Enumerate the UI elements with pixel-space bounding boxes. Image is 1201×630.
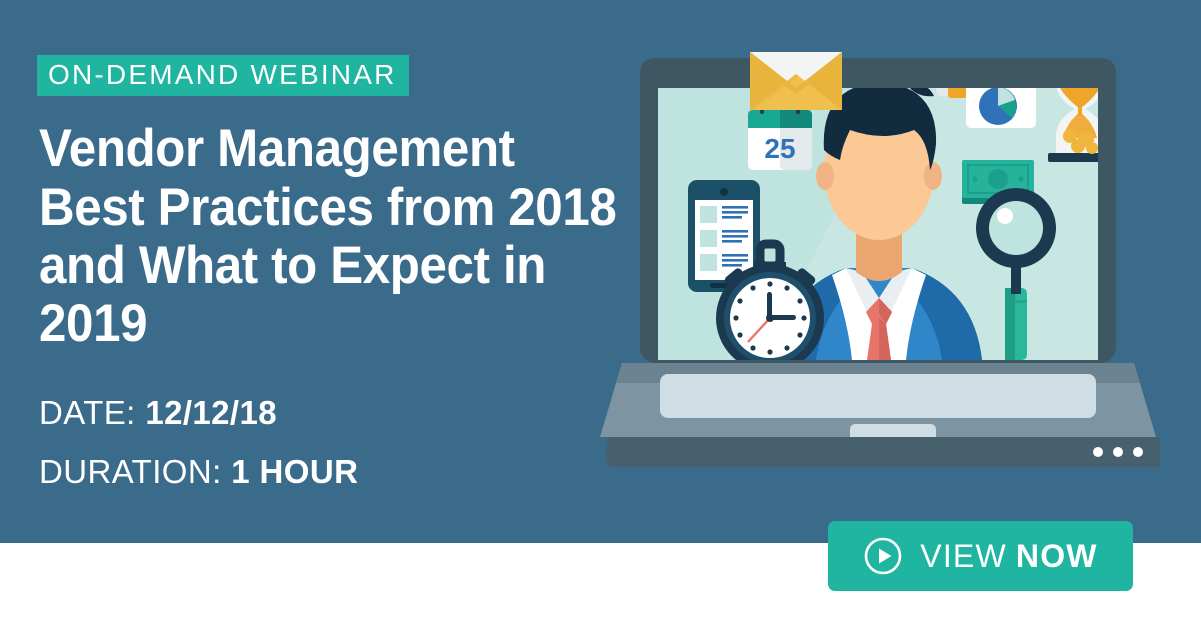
eyebrow-badge: ON-DEMAND WEBINAR <box>37 55 409 96</box>
cta-label-bold: NOW <box>1016 538 1098 574</box>
webinar-illustration: 25 <box>600 0 1160 500</box>
duration-line: DURATION: 1 HOUR <box>39 455 677 488</box>
view-now-button[interactable]: VIEWNOW <box>828 521 1133 591</box>
cta-label-light: VIEW <box>920 538 1007 574</box>
page-title: Vendor Management Best Practices from 20… <box>39 120 632 353</box>
banner-text-column: ON-DEMAND WEBINAR Vendor Management Best… <box>37 55 677 514</box>
date-value: 12/12/18 <box>145 394 277 431</box>
svg-text:25: 25 <box>764 133 795 164</box>
date-line: DATE: 12/12/18 <box>39 396 677 429</box>
duration-value: 1 HOUR <box>231 453 358 490</box>
calendar-icon: 25 <box>748 100 812 170</box>
envelope-icon <box>750 52 842 110</box>
duration-label: DURATION: <box>39 453 222 490</box>
webinar-meta: DATE: 12/12/18 DURATION: 1 HOUR <box>39 396 677 488</box>
view-now-label: VIEWNOW <box>920 540 1097 572</box>
webinar-promo-banner: 25 <box>0 0 1201 630</box>
play-circle-icon <box>863 536 903 576</box>
date-label: DATE: <box>39 394 136 431</box>
